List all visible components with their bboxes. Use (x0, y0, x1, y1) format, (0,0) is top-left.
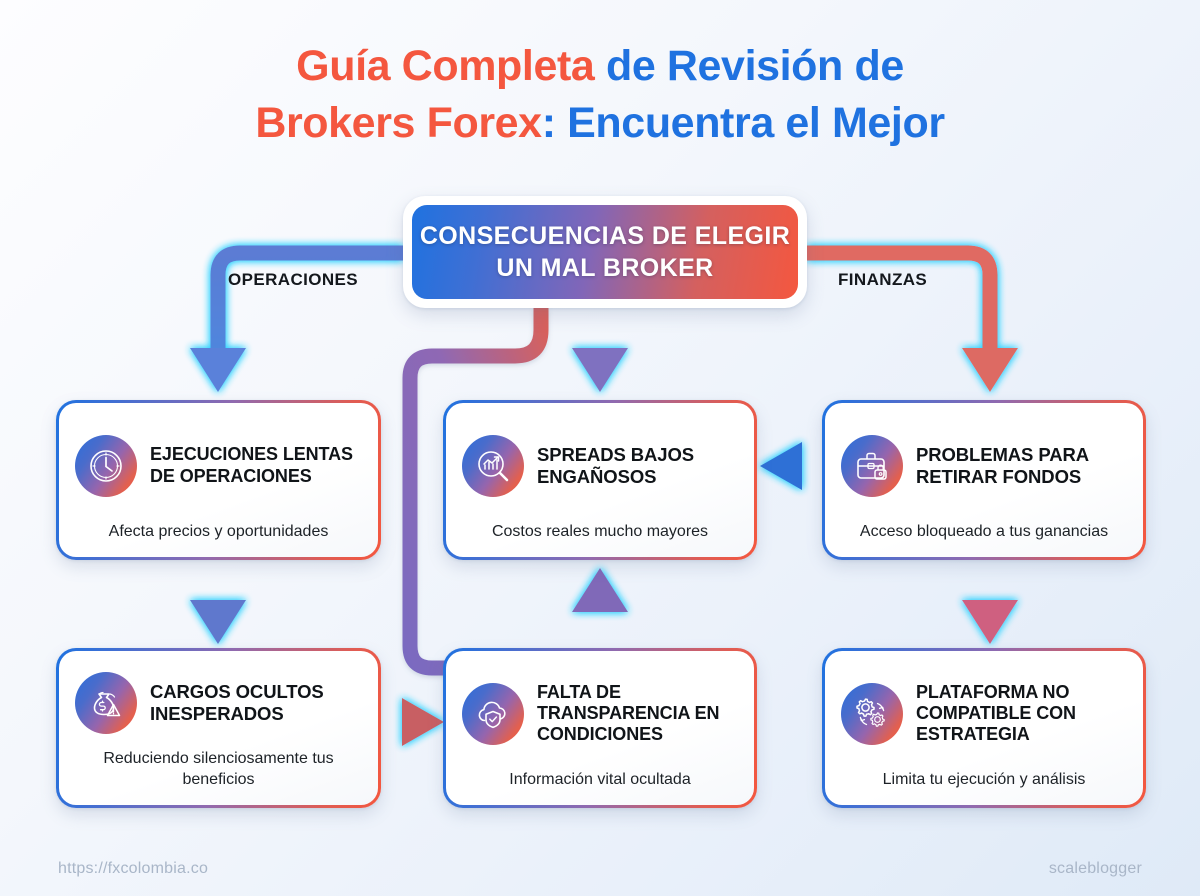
page-title: Guía Completa de Revisión de Brokers For… (0, 38, 1200, 152)
center-node: CONSECUENCIAS DE ELEGIR UN MAL BROKER (403, 196, 807, 308)
card-spreads[interactable]: SPREADS BAJOS ENGAÑOSOS Costos reales mu… (443, 400, 757, 560)
footer-url[interactable]: https://fxcolombia.co (58, 860, 208, 878)
title-accent-red-2: Brokers Forex (255, 99, 541, 147)
card-title: PLATAFORMA NO COMPATIBLE CON ESTRATEGIA (916, 682, 1127, 746)
center-node-label: CONSECUENCIAS DE ELEGIR UN MAL BROKER (412, 220, 798, 284)
card-inner: PROBLEMAS PARA RETIRAR FONDOS Acceso blo… (825, 403, 1143, 557)
card-inner: PLATAFORMA NO COMPATIBLE CON ESTRATEGIA … (825, 651, 1143, 805)
title-accent-blue-2: : Encuentra el Mejor (542, 99, 945, 147)
card-title: FALTA DE TRANSPARENCIA EN CONDICIONES (537, 682, 738, 746)
card-inner: CARGOS OCULTOS INESPERADOS Reduciendo si… (59, 651, 378, 805)
connector-problemas-to-spreads (760, 442, 820, 490)
cloud-shield-icon (462, 683, 524, 745)
card-inner: EJECUCIONES LENTAS DE OPERACIONES Afecta… (59, 403, 378, 557)
card-plataforma[interactable]: PLATAFORMA NO COMPATIBLE CON ESTRATEGIA … (822, 648, 1146, 808)
card-falta[interactable]: FALTA DE TRANSPARENCIA EN CONDICIONES In… (443, 648, 757, 808)
page-title-line-2: Brokers Forex: Encuentra el Mejor (0, 95, 1200, 152)
card-head: CARGOS OCULTOS INESPERADOS (75, 665, 362, 741)
connector-ejecuciones-to-cargos (190, 566, 246, 644)
gears-sync-icon (841, 683, 903, 745)
briefcase-lock-icon (841, 435, 903, 497)
clock-icon (75, 435, 137, 497)
card-title: CARGOS OCULTOS INESPERADOS (150, 681, 362, 725)
card-head: FALTA DE TRANSPARENCIA EN CONDICIONES (462, 665, 738, 762)
branch-label-finanzas: FINANZAS (838, 270, 927, 290)
center-node-inner: CONSECUENCIAS DE ELEGIR UN MAL BROKER (412, 205, 798, 299)
card-title: SPREADS BAJOS ENGAÑOSOS (537, 444, 738, 488)
branch-label-operaciones: OPERACIONES (228, 270, 358, 290)
connector-problemas-to-plataforma (962, 566, 1018, 644)
card-inner: FALTA DE TRANSPARENCIA EN CONDICIONES In… (446, 651, 754, 805)
card-subtitle: Limita tu ejecución y análisis (841, 762, 1127, 793)
card-ejecuciones[interactable]: EJECUCIONES LENTAS DE OPERACIONES Afecta… (56, 400, 381, 560)
card-title: PROBLEMAS PARA RETIRAR FONDOS (916, 444, 1127, 488)
card-subtitle: Afecta precios y oportunidades (75, 514, 362, 545)
card-head: PLATAFORMA NO COMPATIBLE CON ESTRATEGIA (841, 665, 1127, 762)
money-bag-warning-icon (75, 672, 137, 734)
magnifier-chart-icon (462, 435, 524, 497)
page-title-line-1: Guía Completa de Revisión de (0, 38, 1200, 95)
card-subtitle: Costos reales mucho mayores (462, 514, 738, 545)
connector-center-to-spreads (572, 308, 628, 392)
card-head: PROBLEMAS PARA RETIRAR FONDOS (841, 417, 1127, 514)
title-accent-red: Guía Completa (296, 42, 606, 90)
card-subtitle: Información vital ocultada (462, 762, 738, 793)
connector-cargos-to-falta (382, 698, 444, 746)
title-accent-blue: de Revisión de (606, 42, 904, 90)
card-head: SPREADS BAJOS ENGAÑOSOS (462, 417, 738, 514)
card-inner: SPREADS BAJOS ENGAÑOSOS Costos reales mu… (446, 403, 754, 557)
card-title: EJECUCIONES LENTAS DE OPERACIONES (150, 444, 362, 486)
card-head: EJECUCIONES LENTAS DE OPERACIONES (75, 417, 362, 514)
connector-falta-to-spreads (572, 568, 628, 646)
card-cargos[interactable]: CARGOS OCULTOS INESPERADOS Reduciendo si… (56, 648, 381, 808)
card-subtitle: Reduciendo silenciosamente tus beneficio… (75, 741, 362, 793)
footer-brand: scaleblogger (1049, 860, 1142, 878)
card-problemas[interactable]: PROBLEMAS PARA RETIRAR FONDOS Acceso blo… (822, 400, 1146, 560)
card-subtitle: Acceso bloqueado a tus ganancias (841, 514, 1127, 545)
